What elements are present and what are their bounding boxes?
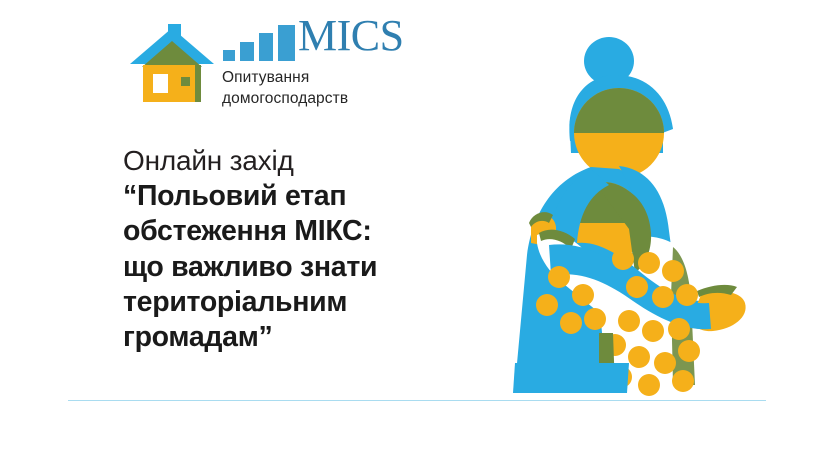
mics-bar-chart-icon [222,24,298,62]
house-icon [126,22,218,106]
mother-and-child-illustration [487,33,787,400]
event-kicker: Онлайн захід [123,144,453,178]
mics-wordmark-text: MICS [298,14,404,58]
mics-bar-1 [222,49,236,62]
mics-wordmark: MICS [222,18,432,68]
mics-bar-4 [277,24,296,62]
mics-bar-3 [258,32,274,62]
page-title: “Польовий етап обстеження МІКС: що важли… [123,179,453,356]
mics-logo-block: MICS Опитування домогосподарств [126,18,426,110]
footer-partner-bar: Держстат Інститут демографії НАН України… [0,406,833,474]
title-block: Онлайн захід “Польовий етап обстеження М… [123,144,453,356]
slide-canvas: MICS Опитування домогосподарств Онлайн з… [0,0,833,474]
footer-divider [68,400,766,401]
mics-bar-2 [239,41,255,62]
mics-logo-subtitle: Опитування домогосподарств [222,68,348,109]
